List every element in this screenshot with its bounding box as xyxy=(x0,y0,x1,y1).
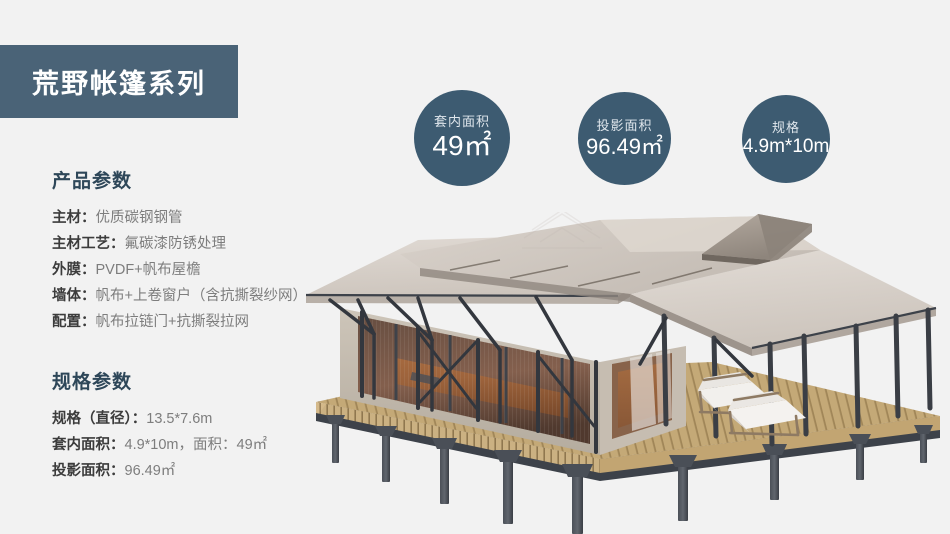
spec-label: 主材： xyxy=(52,210,96,226)
stat-circle-interior-area: 套内面积 49㎡ xyxy=(414,90,510,186)
spec-value: 氟碳漆防锈处理 xyxy=(125,236,227,252)
spec-label: 墙体： xyxy=(52,288,96,304)
title-banner: 荒野帐篷系列 xyxy=(0,45,238,118)
spec-label: 外膜： xyxy=(52,262,96,278)
stat-label: 规格 xyxy=(772,120,800,136)
spec-value: 帆布拉链门+抗撕裂拉网 xyxy=(96,314,249,330)
stat-circle-projected-area: 投影面积 96.49㎡ xyxy=(578,92,671,185)
stat-value: 4.9m*10m xyxy=(743,137,830,158)
spec-label: 主材工艺： xyxy=(52,236,125,252)
spec-value: 96.49㎡ xyxy=(125,463,176,479)
spec-value: PVDF+帆布屋檐 xyxy=(96,262,201,278)
stat-label: 套内面积 xyxy=(434,114,490,130)
spec-label: 套内面积： xyxy=(52,437,125,453)
spec-value: 4.9*10m，面积：49㎡ xyxy=(125,437,268,453)
spec-value: 帆布+上卷窗户（含抗撕裂纱网） xyxy=(96,288,307,304)
stat-circle-dimensions: 规格 4.9m*10m xyxy=(742,95,830,183)
spec-label: 投影面积： xyxy=(52,463,125,479)
spec-label: 规格（直径）： xyxy=(52,411,146,427)
page-title: 荒野帐篷系列 xyxy=(32,62,206,101)
spec-label: 配置： xyxy=(52,314,96,330)
stat-value: 49㎡ xyxy=(432,131,491,162)
spec-value: 13.5*7.6m xyxy=(146,411,212,427)
stat-label: 投影面积 xyxy=(596,118,652,134)
product-parameters-heading: 产品参数 xyxy=(52,166,352,193)
slide-canvas: 荒野帐篷系列 产品参数 主材：优质碳钢钢管 主材工艺：氟碳漆防锈处理 外膜：PV… xyxy=(0,0,950,534)
stat-value: 96.49㎡ xyxy=(586,135,663,159)
spec-value: 优质碳钢钢管 xyxy=(96,210,183,226)
safari-tent-3d-render xyxy=(300,212,950,534)
